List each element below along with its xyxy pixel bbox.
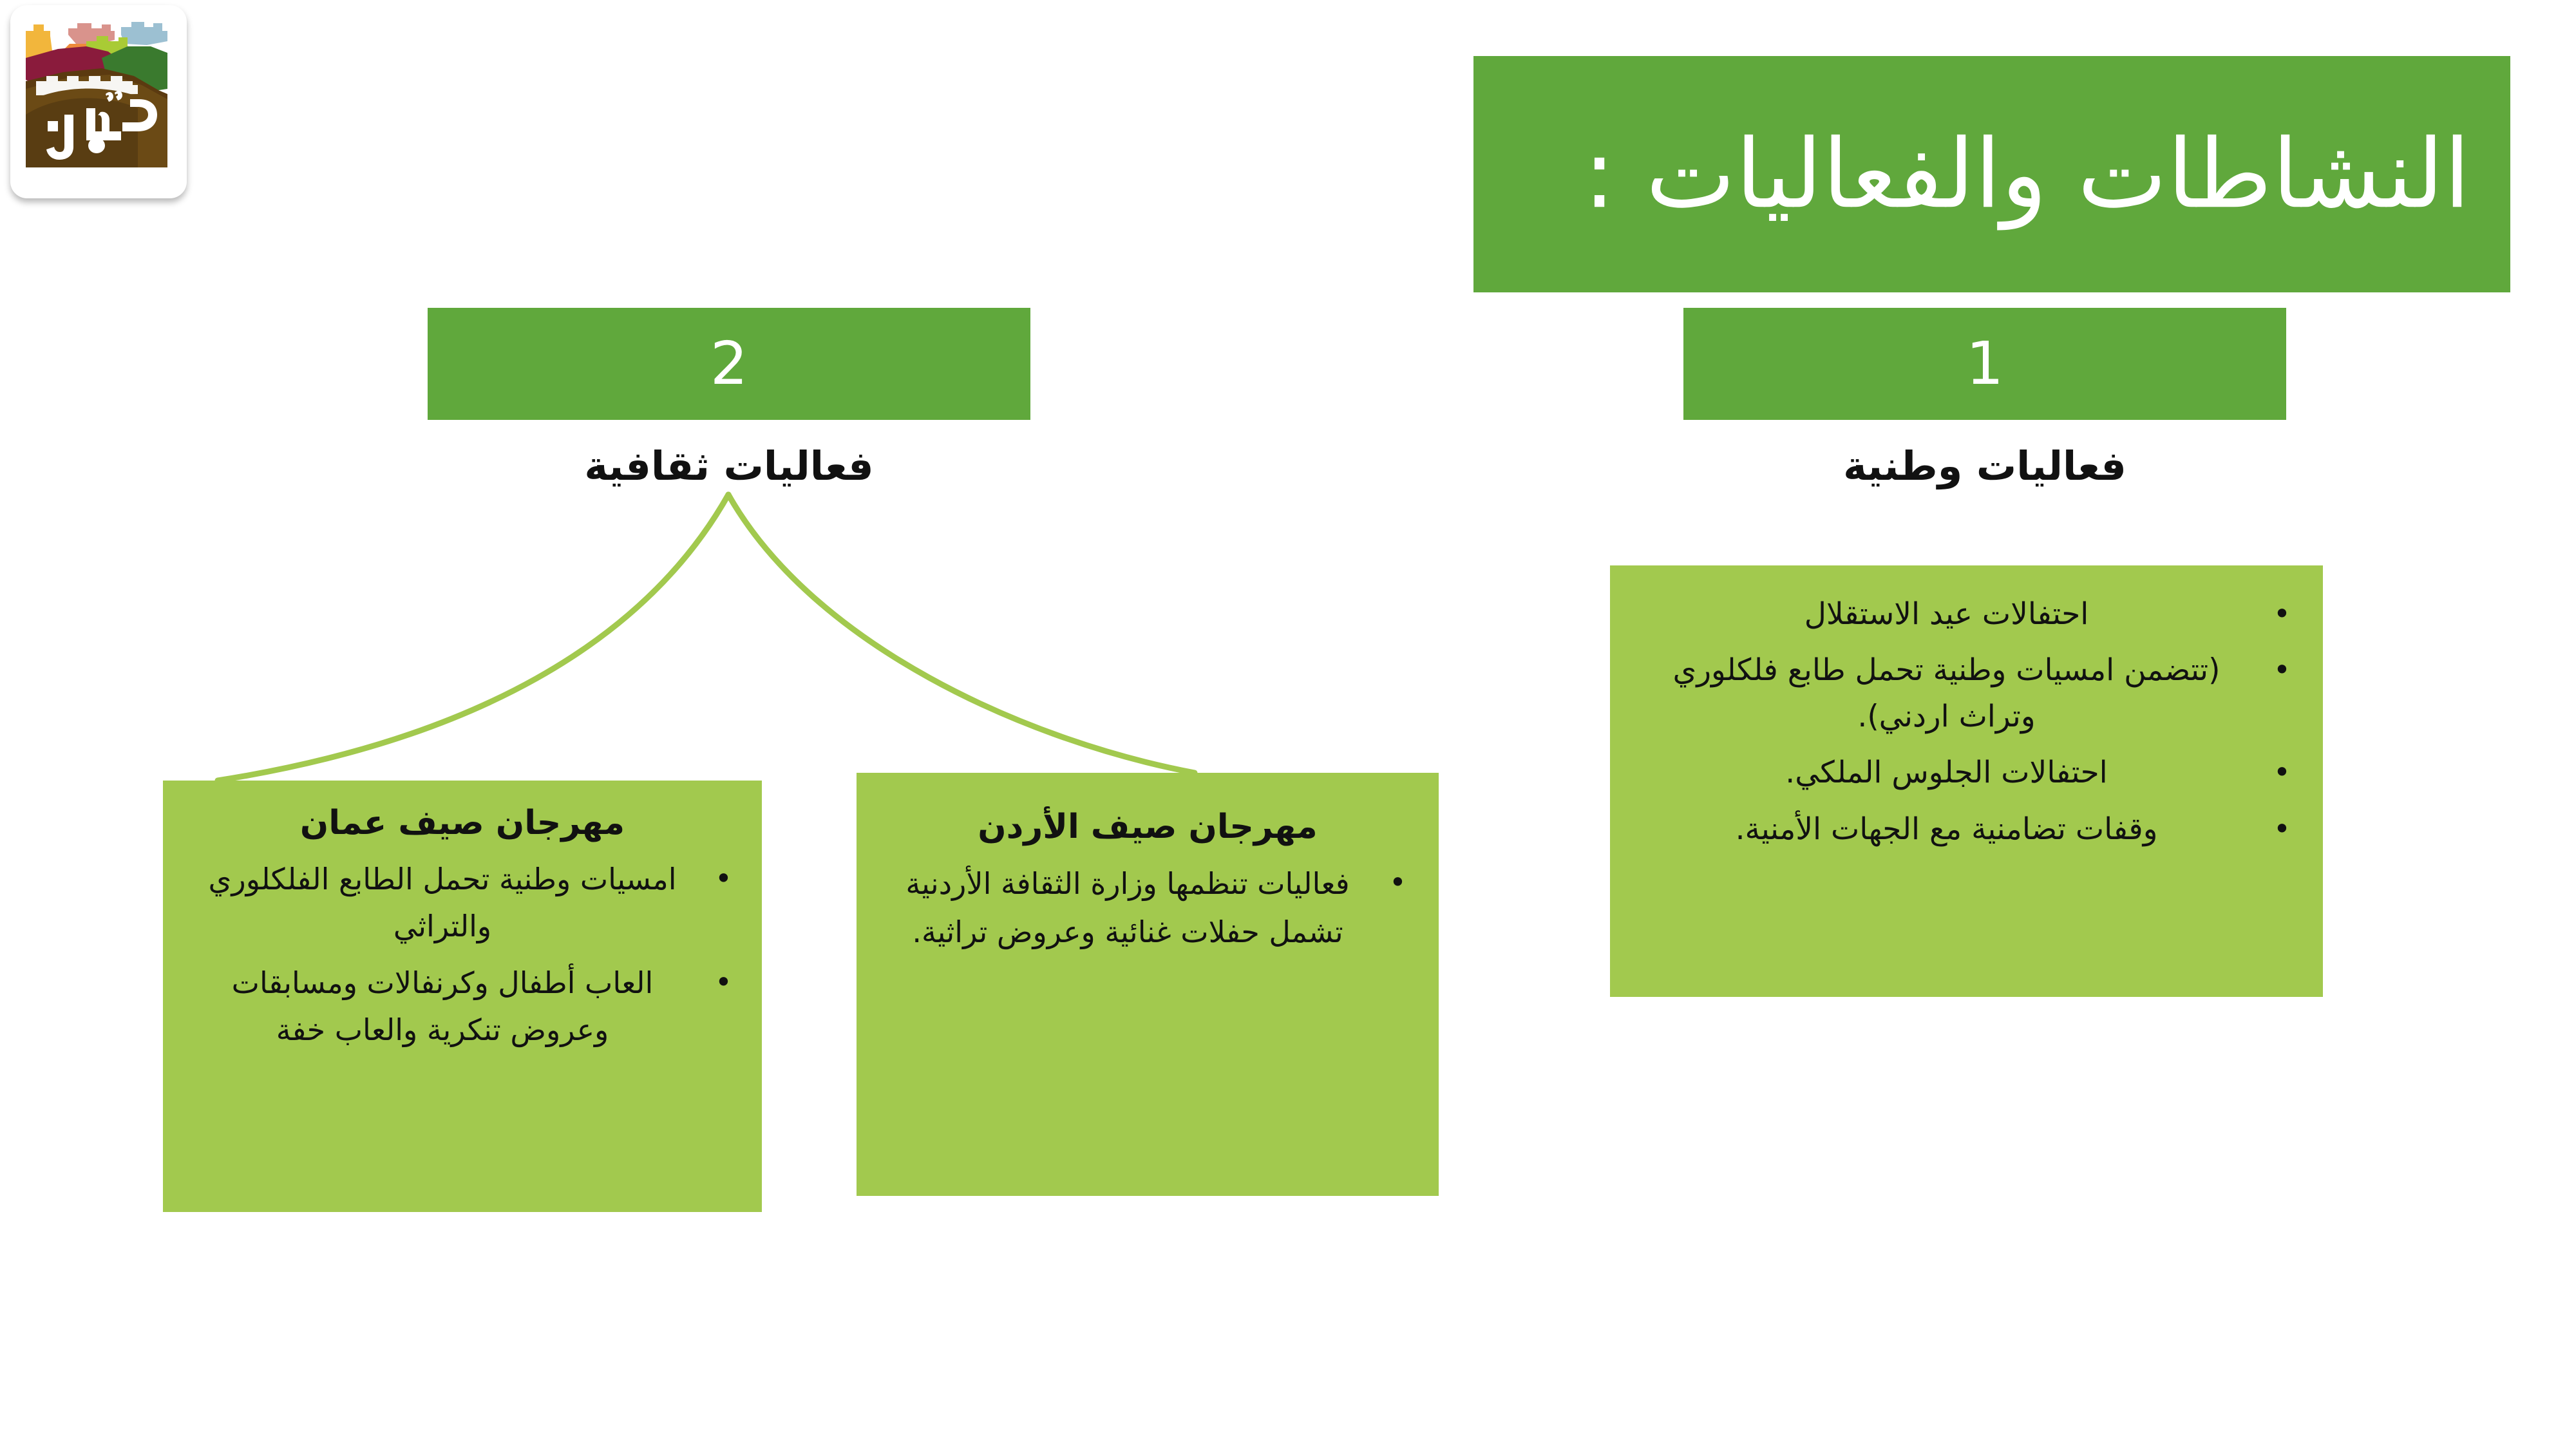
branch-1-caption: فعاليات وطنية <box>1683 444 2286 488</box>
logo-artwork <box>24 18 173 184</box>
list-item: امسيات وطنية تحمل الطابع الفلكلوري والتر… <box>182 856 743 949</box>
branch-2-child-1-title: مهرجان صيف عمان <box>182 802 743 844</box>
list-item: احتفالات عيد الاستقلال <box>1632 591 2301 637</box>
list-item: العاب أطفال وكرنفالات ومسابقات وعروض تنك… <box>182 960 743 1053</box>
branch-2-caption: فعاليات ثقافية <box>428 444 1030 488</box>
list-item: (تتضمن امسيات وطنية تحمل طابع فلكلوري وت… <box>1632 647 2301 739</box>
branch-2-child-2-title: مهرجان صيف الأردن <box>878 806 1417 848</box>
slide-title-banner: النشاطات والفعاليات : <box>1473 56 2510 292</box>
branch-2-child-1-bullet-list: امسيات وطنية تحمل الطابع الفلكلوري والتر… <box>182 856 743 1054</box>
branch-1-bullet-list: احتفالات عيد الاستقلال (تتضمن امسيات وطن… <box>1632 591 2301 852</box>
logo-svg <box>24 18 173 184</box>
connector-right-curve <box>728 495 1195 773</box>
branch-1-number-chip: 1 <box>1683 308 2286 420</box>
slide-canvas: النشاطات والفعاليات : 1 فعاليات وطنية اح… <box>0 0 2576 1449</box>
branch-2-number: 2 <box>710 334 748 393</box>
branch-1-number: 1 <box>1966 334 2004 393</box>
branch-2-child-2-bullet-list: فعاليات تنظمها وزارة الثقافة الأردنية تش… <box>878 860 1417 956</box>
connector-left-curve <box>218 495 728 781</box>
branch-2-child-2-panel: مهرجان صيف الأردن فعاليات تنظمها وزارة ا… <box>857 773 1439 1196</box>
list-item: وقفات تضامنية مع الجهات الأمنية. <box>1632 806 2301 852</box>
branch-2-child-1-panel: مهرجان صيف عمان امسيات وطنية تحمل الطابع… <box>163 781 762 1212</box>
branch-2-number-chip: 2 <box>428 308 1030 420</box>
branch-1-content-panel: احتفالات عيد الاستقلال (تتضمن امسيات وطن… <box>1610 565 2323 997</box>
greater-amman-municipality-logo <box>10 5 187 198</box>
page-title: النشاطات والفعاليات : <box>1584 124 2470 224</box>
list-item: فعاليات تنظمها وزارة الثقافة الأردنية تش… <box>878 860 1417 956</box>
list-item: احتفالات الجلوس الملكي. <box>1632 750 2301 795</box>
